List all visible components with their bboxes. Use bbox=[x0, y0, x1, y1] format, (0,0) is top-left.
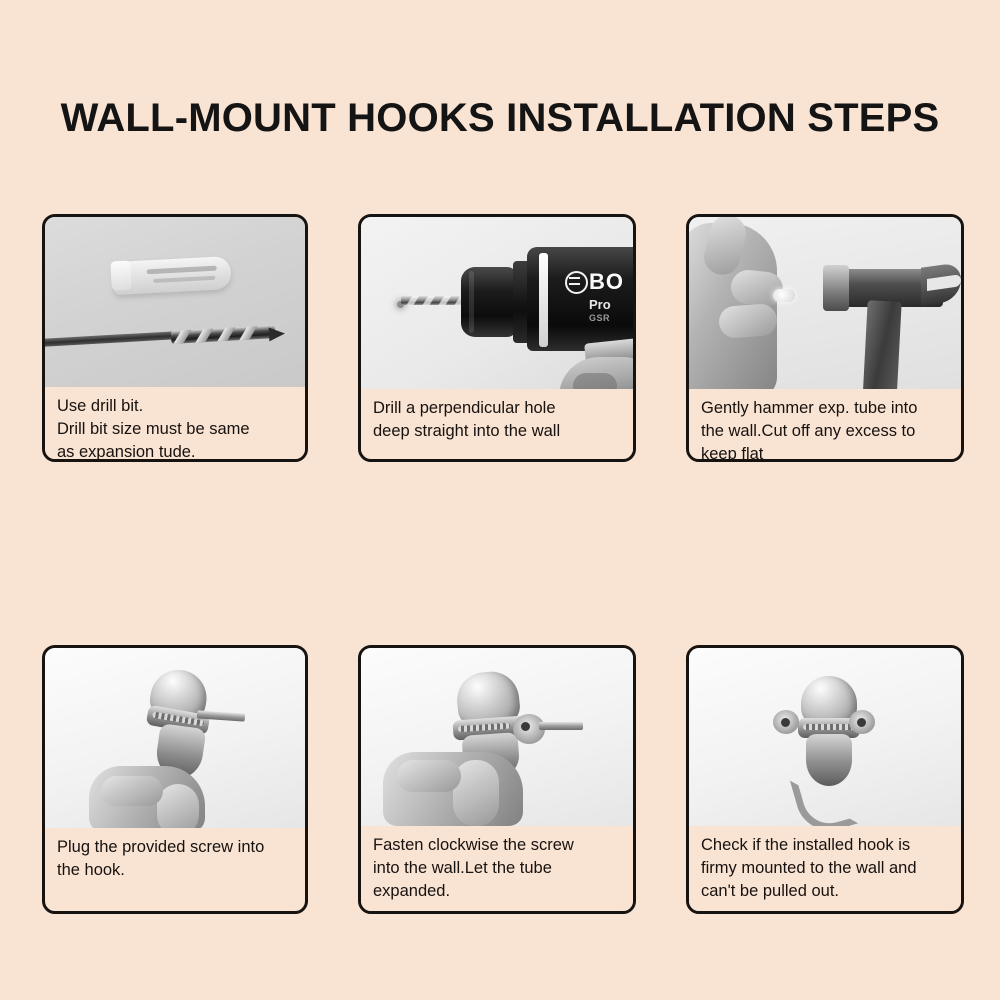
step-card-1: Use drill bit. Drill bit size must be sa… bbox=[42, 214, 308, 462]
caption-line: firmy mounted to the wall and bbox=[701, 857, 951, 880]
step-card-4: Plug the provided screw into the hook. bbox=[42, 645, 308, 914]
infographic-page: WALL-MOUNT HOOKS INSTALLATION STEPS Use … bbox=[0, 0, 1000, 1000]
hammer-handle-shape bbox=[862, 300, 901, 389]
caption-line: Use drill bit. bbox=[57, 395, 295, 418]
brand-name-text: BO bbox=[589, 269, 624, 295]
hand-gripping-drill-shape bbox=[559, 357, 633, 389]
caption-line: as expansion tude. bbox=[57, 441, 295, 462]
step-card-6: Check if the installed hook is firmy mou… bbox=[686, 645, 964, 914]
drill-chuck-shape bbox=[461, 267, 517, 337]
caption-line: Plug the provided screw into bbox=[57, 836, 295, 859]
page-title: WALL-MOUNT HOOKS INSTALLATION STEPS bbox=[0, 96, 1000, 141]
step-caption-6: Check if the installed hook is firmy mou… bbox=[689, 826, 961, 911]
hook-mounting-ear-shape bbox=[849, 710, 875, 734]
finger-shape bbox=[397, 760, 461, 792]
fastening-hook-screw-into-wall-photo bbox=[361, 648, 633, 826]
hammer-face-shape bbox=[823, 265, 849, 311]
caption-line: Drill a perpendicular hole bbox=[373, 397, 623, 420]
caption-line: deep straight into the wall bbox=[373, 420, 623, 443]
drill-bit-shape bbox=[401, 296, 467, 305]
caption-line: Gently hammer exp. tube into bbox=[701, 397, 951, 420]
brand-line2-text: Pro bbox=[589, 297, 611, 312]
brand-line3-text: GSR bbox=[589, 313, 610, 323]
finger-shape bbox=[101, 776, 163, 806]
thumb-shape bbox=[157, 784, 199, 828]
step-caption-3: Gently hammer exp. tube into the wall.Cu… bbox=[689, 389, 961, 462]
caption-line: Fasten clockwise the screw bbox=[373, 834, 623, 857]
caption-line: Drill bit size must be same bbox=[57, 418, 295, 441]
step-card-3: Gently hammer exp. tube into the wall.Cu… bbox=[686, 214, 964, 462]
caption-line: the hook. bbox=[57, 859, 295, 882]
hammer-claw-shape bbox=[921, 262, 961, 306]
step-caption-5: Fasten clockwise the screw into the wall… bbox=[361, 826, 633, 911]
drill-white-ring-shape bbox=[539, 253, 548, 347]
steps-grid: Use drill bit. Drill bit size must be sa… bbox=[42, 214, 968, 914]
step-caption-4: Plug the provided screw into the hook. bbox=[45, 828, 305, 891]
caption-line: can't be pulled out. bbox=[701, 880, 951, 903]
step-caption-2: Drill a perpendicular hole deep straight… bbox=[361, 389, 633, 452]
caption-line: keep flat bbox=[701, 443, 951, 462]
step-card-2: BO Pro GSR Drill a perpendicular hole de… bbox=[358, 214, 636, 462]
caption-line: the wall.Cut off any excess to bbox=[701, 420, 951, 443]
step-card-5: Fasten clockwise the screw into the wall… bbox=[358, 645, 636, 914]
caption-line: into the wall.Let the tube bbox=[373, 857, 623, 880]
hammering-expansion-tube-photo bbox=[689, 217, 961, 389]
step-caption-1: Use drill bit. Drill bit size must be sa… bbox=[45, 387, 305, 462]
finger-shape bbox=[718, 303, 778, 339]
expansion-plug-cap-shape bbox=[110, 260, 131, 290]
caption-line: expanded. bbox=[373, 880, 623, 903]
hook-mounting-ear-shape bbox=[773, 710, 799, 734]
drill-bit-flute-shape bbox=[171, 325, 276, 344]
bosch-logo-icon bbox=[565, 271, 588, 294]
installed-hook-on-wall-photo bbox=[689, 648, 961, 826]
screw-shape bbox=[539, 722, 583, 730]
drill-bit-and-expansion-plug-photo bbox=[45, 217, 305, 387]
hand-holding-hook-with-screw-photo bbox=[45, 648, 305, 828]
drill-bit-tip-shape bbox=[269, 327, 286, 342]
expansion-plug-shape bbox=[773, 289, 795, 302]
drill-bit-shank-shape bbox=[45, 331, 177, 347]
caption-line: Check if the installed hook is bbox=[701, 834, 951, 857]
cordless-drill-drilling-wall-photo: BO Pro GSR bbox=[361, 217, 633, 389]
hook-curve-shape bbox=[790, 766, 858, 826]
